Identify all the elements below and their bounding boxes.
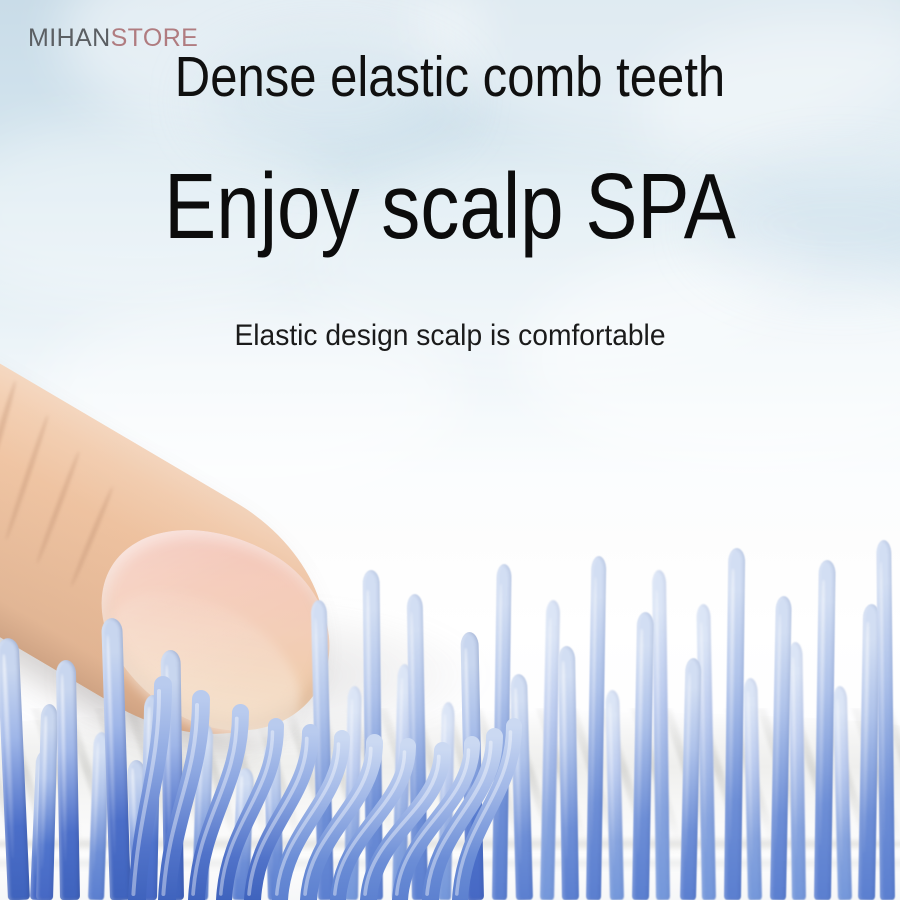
headline-secondary: Enjoy scalp SPA xyxy=(72,160,828,253)
bristle-highlight xyxy=(684,672,692,861)
brand-name-primary: MIHAN xyxy=(28,24,111,52)
comb-bristle xyxy=(56,660,80,900)
bristle-highlight xyxy=(40,716,48,869)
bristle-highlight xyxy=(655,590,661,847)
finger-crease xyxy=(35,450,82,564)
comb-bristle-bent xyxy=(452,718,536,900)
bristle-highlight xyxy=(879,562,885,843)
product-banner: MIHANSTORE Dense elastic comb teeth Enjo… xyxy=(0,0,900,900)
finger-crease xyxy=(0,380,18,516)
cloud-blob xyxy=(520,250,900,470)
bristle-highlight xyxy=(774,614,782,851)
bristle-highlight xyxy=(608,703,615,867)
bristle-highlight xyxy=(544,618,552,852)
bristle-highlight xyxy=(60,674,68,861)
bristle-highlight xyxy=(746,691,753,864)
headline-primary: Dense elastic comb teeth xyxy=(63,49,837,106)
comb-bristle xyxy=(876,540,895,900)
headline-subtitle: Elastic design scalp is comfortable xyxy=(27,321,873,351)
bristle-highlight xyxy=(636,629,644,854)
comb-bristle xyxy=(558,646,579,900)
bristle-highlight xyxy=(791,658,797,859)
bristle-highlight xyxy=(105,635,117,855)
finger-crease xyxy=(4,414,51,541)
comb-bristle xyxy=(652,570,670,900)
bristle-highlight xyxy=(561,661,568,859)
bristle-highlight xyxy=(818,580,825,845)
comb-bristle xyxy=(788,642,806,900)
bristle-highlight xyxy=(699,622,707,853)
brand-logo: MIHANSTORE xyxy=(28,26,198,51)
bristle-highlight xyxy=(92,742,100,873)
comb-bristle-bent xyxy=(128,676,186,900)
bristle-highlight xyxy=(590,577,598,845)
bristle-highlight xyxy=(862,622,870,853)
bristle-highlight xyxy=(836,699,843,866)
bristle-highlight xyxy=(728,569,735,844)
